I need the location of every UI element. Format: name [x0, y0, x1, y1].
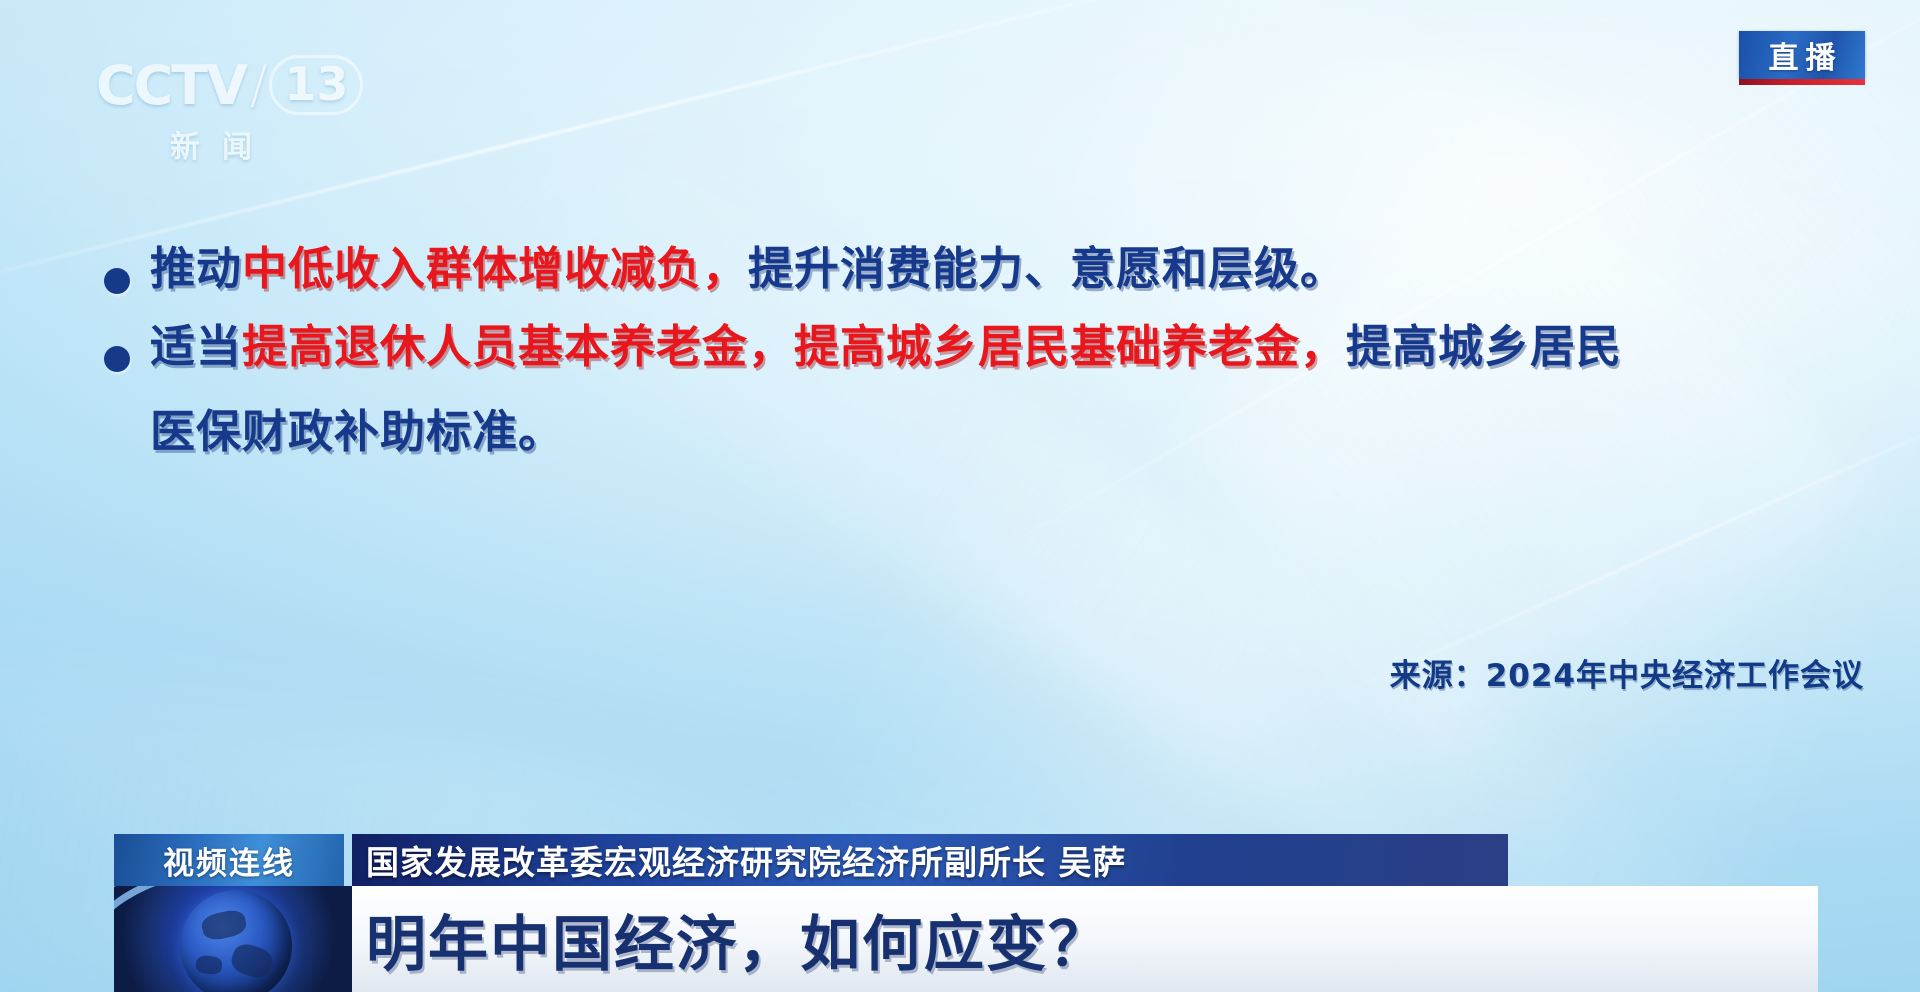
globe-landmass: [200, 908, 248, 943]
live-badge-label: 直播: [1762, 33, 1843, 77]
bullet-line: 医保财政补助标准。: [150, 409, 1864, 454]
globe-sphere-icon: [180, 890, 292, 992]
lower-third-banner: 视频连线 国家发展改革委宏观经济研究院经济所副所长 吴萨 明年中国经济，如何应变…: [0, 834, 1920, 992]
live-badge-accent-bar: [1739, 79, 1865, 85]
body-text: 推动: [150, 242, 242, 295]
bullet-item: 推动中低收入群体增收减负，提升消费能力、意愿和层级。: [104, 246, 1864, 294]
globe-landmass: [195, 955, 223, 976]
globe-landmass: [228, 941, 275, 982]
policy-bullet-list: 推动中低收入群体增收减负，提升消费能力、意愿和层级。适当提高退休人员基本养老金，…: [104, 246, 1864, 484]
highlight-text: 提高退休人员基本养老金，提高城乡居民基础养老金，: [242, 320, 1346, 373]
logo-channel-number: 13: [269, 55, 363, 115]
bullet-line: 适当提高退休人员基本养老金，提高城乡居民基础养老金，提高城乡居民: [150, 324, 1864, 369]
bullet-dot-icon: [104, 268, 130, 294]
body-text: 医保财政补助标准。: [150, 405, 564, 458]
highlight-text: 中低收入群体增收减负，: [242, 242, 748, 295]
logo-cctv-text: CCTV: [96, 54, 246, 117]
bullet-text-lines: 适当提高退休人员基本养老金，提高城乡居民基础养老金，提高城乡居民医保财政补助标准…: [150, 324, 1864, 454]
logo-subtitle: 新闻: [96, 122, 326, 166]
bullet-dot-icon: [104, 346, 130, 372]
bullet-text-lines: 推动中低收入群体增收减负，提升消费能力、意愿和层级。: [150, 246, 1864, 291]
bullet-item: 适当提高退休人员基本养老金，提高城乡居民基础养老金，提高城乡居民医保财政补助标准…: [104, 324, 1864, 454]
broadcast-stage: CCTV / 13 新闻 直播 推动中低收入群体增收减负，提升消费能力、意愿和层…: [0, 0, 1920, 992]
live-badge: 直播: [1739, 31, 1865, 79]
body-text: 适当: [150, 320, 242, 373]
guest-title-label: 国家发展改革委宏观经济研究院经济所副所长 吴萨: [366, 836, 1127, 884]
globe-graphic: [114, 886, 352, 992]
headline-bar: 明年中国经济，如何应变？: [114, 886, 1818, 992]
body-text: 提升消费能力、意愿和层级。: [748, 242, 1346, 295]
video-link-label: 视频连线: [163, 838, 295, 883]
logo-slash-icon: /: [250, 55, 268, 115]
bullet-line: 推动中低收入群体增收减负，提升消费能力、意愿和层级。: [150, 246, 1864, 291]
body-text: 提高城乡居民: [1346, 320, 1622, 373]
logo-main-row: CCTV / 13: [96, 52, 326, 118]
source-attribution: 来源：2024年中央经济工作会议: [1390, 650, 1864, 695]
video-link-tab: 视频连线: [114, 834, 344, 886]
guest-title-bar: 国家发展改革委宏观经济研究院经济所副所长 吴萨: [352, 834, 1508, 886]
headline: 明年中国经济，如何应变？: [352, 896, 1818, 983]
headline-label: 明年中国经济，如何应变？: [366, 896, 1110, 983]
cctv13-channel-logo: CCTV / 13 新闻: [96, 52, 326, 168]
